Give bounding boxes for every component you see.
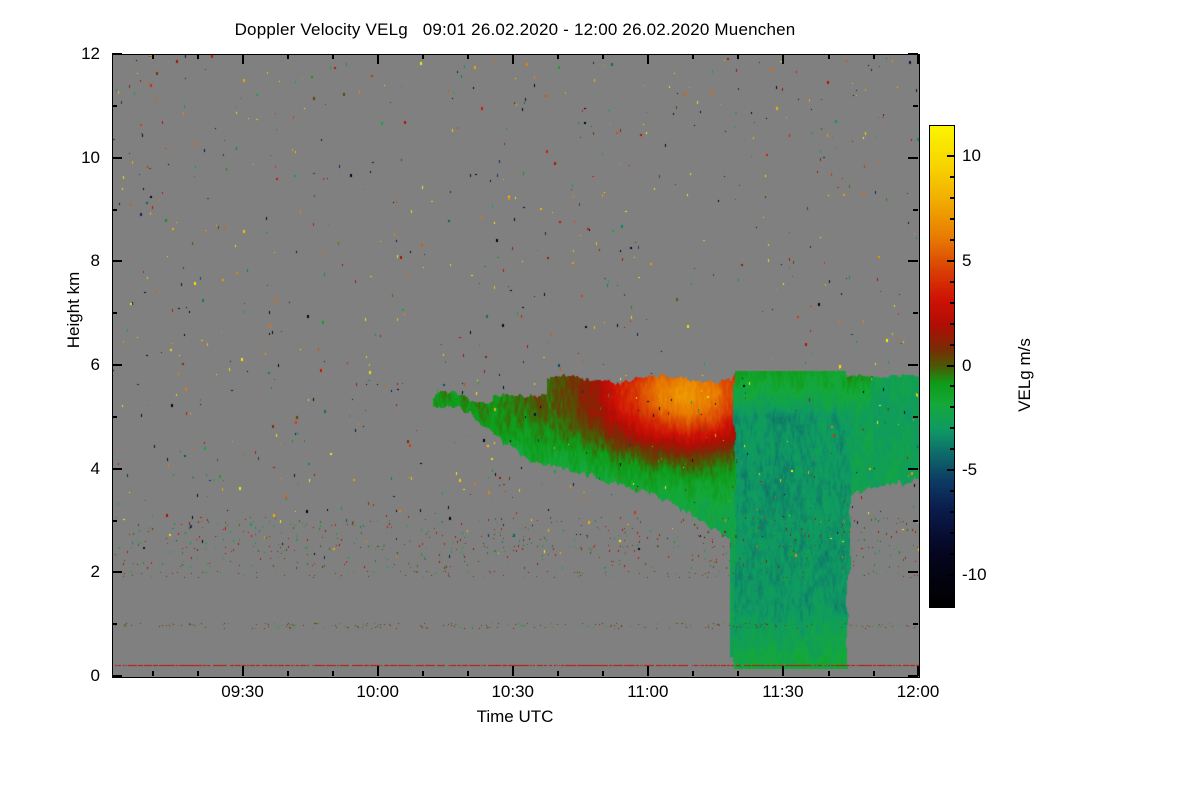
x-major-tick: [782, 666, 784, 676]
colorbar-minor-tick: [950, 532, 954, 534]
x-minor-tick: [332, 54, 334, 59]
x-minor-tick: [557, 671, 559, 676]
y-major-tick: [112, 260, 122, 262]
colorbar-major-tick: [947, 155, 954, 157]
x-minor-tick: [422, 54, 424, 59]
x-minor-tick: [467, 671, 469, 676]
x-minor-tick: [287, 54, 289, 59]
x-minor-tick: [332, 671, 334, 676]
y-major-tick: [908, 571, 918, 573]
x-tick-label: 11:00: [627, 682, 668, 702]
doppler-velocity-figure: Doppler Velocity VELg 09:01 26.02.2020 -…: [0, 0, 1200, 800]
x-tick-label: 12:00: [897, 682, 940, 702]
y-major-tick: [908, 157, 918, 159]
y-minor-tick: [913, 520, 918, 522]
y-minor-tick: [112, 520, 117, 522]
y-tick-label: 8: [66, 251, 100, 271]
y-minor-tick: [112, 623, 117, 625]
x-major-tick: [377, 666, 379, 676]
x-major-tick: [917, 54, 919, 64]
y-minor-tick: [913, 105, 918, 107]
colorbar-tick-label: 10: [962, 146, 981, 166]
y-minor-tick: [913, 623, 918, 625]
colorbar-minor-tick: [950, 218, 954, 220]
x-tick-label: 10:00: [356, 682, 399, 702]
colorbar-minor-tick: [950, 302, 954, 304]
y-major-tick: [112, 364, 122, 366]
x-minor-tick: [152, 54, 154, 59]
x-minor-tick: [197, 54, 199, 59]
x-minor-tick: [602, 671, 604, 676]
y-major-tick: [908, 260, 918, 262]
colorbar-tick-label: -10: [962, 565, 987, 585]
colorbar-minor-tick: [950, 323, 954, 325]
x-minor-tick: [873, 54, 875, 59]
y-minor-tick: [112, 416, 117, 418]
x-major-tick: [917, 666, 919, 676]
colorbar-minor-tick: [950, 490, 954, 492]
colorbar-tick-label: -5: [962, 460, 977, 480]
x-major-tick: [242, 54, 244, 64]
colorbar-tick-label: 5: [962, 251, 971, 271]
y-minor-tick: [112, 312, 117, 314]
colorbar-minor-tick: [950, 239, 954, 241]
colorbar-minor-tick: [950, 344, 954, 346]
y-major-tick: [112, 571, 122, 573]
y-tick-label: 0: [66, 666, 100, 686]
x-major-tick: [242, 666, 244, 676]
plot-area[interactable]: [112, 54, 920, 678]
colorbar-minor-tick: [950, 176, 954, 178]
x-minor-tick: [737, 54, 739, 59]
x-major-tick: [782, 54, 784, 64]
radar-heatmap-canvas[interactable]: [113, 55, 919, 677]
x-minor-tick: [602, 54, 604, 59]
colorbar-minor-tick: [950, 406, 954, 408]
x-minor-tick: [828, 671, 830, 676]
x-tick-label: 10:30: [491, 682, 534, 702]
y-minor-tick: [112, 209, 117, 211]
y-minor-tick: [913, 209, 918, 211]
x-major-tick: [512, 666, 514, 676]
y-major-tick: [112, 468, 122, 470]
y-tick-label: 2: [66, 562, 100, 582]
y-minor-tick: [913, 416, 918, 418]
x-tick-label: 09:30: [221, 682, 264, 702]
y-tick-label: 6: [66, 355, 100, 375]
y-tick-label: 10: [66, 148, 100, 168]
x-minor-tick: [467, 54, 469, 59]
x-minor-tick: [557, 54, 559, 59]
x-minor-tick: [422, 671, 424, 676]
colorbar-minor-tick: [950, 448, 954, 450]
y-tick-label: 4: [66, 459, 100, 479]
y-major-tick: [908, 468, 918, 470]
y-tick-label: 12: [66, 44, 100, 64]
x-major-tick: [377, 54, 379, 64]
x-minor-tick: [737, 671, 739, 676]
y-major-tick: [908, 364, 918, 366]
x-minor-tick: [197, 671, 199, 676]
colorbar-minor-tick: [950, 427, 954, 429]
colorbar-major-tick: [947, 469, 954, 471]
colorbar-major-tick: [947, 365, 954, 367]
y-major-tick: [112, 675, 122, 677]
x-minor-tick: [287, 671, 289, 676]
colorbar-minor-tick: [950, 511, 954, 513]
colorbar-minor-tick: [950, 385, 954, 387]
y-minor-tick: [913, 312, 918, 314]
x-axis-label: Time UTC: [112, 707, 918, 727]
colorbar-major-tick: [947, 574, 954, 576]
y-major-tick: [112, 157, 122, 159]
colorbar-minor-tick: [950, 553, 954, 555]
colorbar-major-tick: [947, 260, 954, 262]
y-minor-tick: [112, 105, 117, 107]
x-major-tick: [647, 666, 649, 676]
x-major-tick: [512, 54, 514, 64]
x-minor-tick: [692, 671, 694, 676]
x-tick-label: 11:30: [762, 682, 803, 702]
x-minor-tick: [828, 54, 830, 59]
colorbar-minor-tick: [950, 281, 954, 283]
figure-title: Doppler Velocity VELg 09:01 26.02.2020 -…: [0, 20, 1030, 40]
x-minor-tick: [692, 54, 694, 59]
y-major-tick: [112, 53, 122, 55]
colorbar-minor-tick: [950, 197, 954, 199]
x-minor-tick: [152, 671, 154, 676]
colorbar-tick-label: 0: [962, 356, 971, 376]
x-major-tick: [647, 54, 649, 64]
colorbar-label: VELg m/s: [1015, 290, 1035, 460]
x-minor-tick: [873, 671, 875, 676]
